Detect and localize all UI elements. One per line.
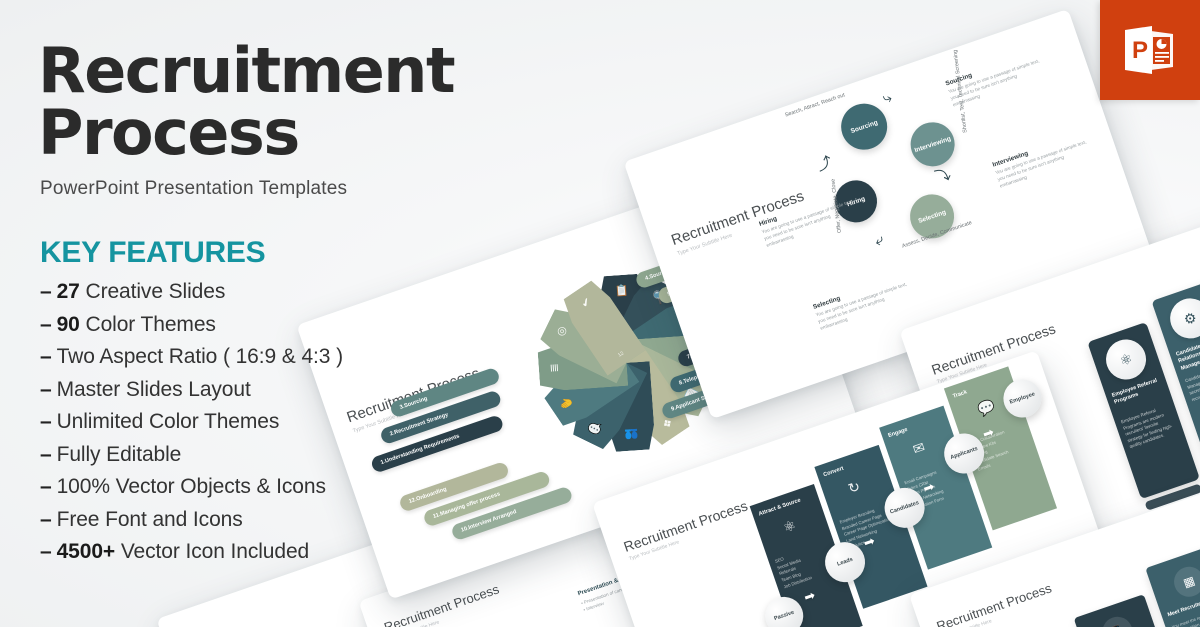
step-card[interactable]: ▦Meet RecruiterYou meet the recruiter as… [1145, 544, 1200, 627]
badge-icon: ✔ [580, 296, 594, 310]
feature-item: –Unlimited Color Themes [40, 406, 470, 439]
feature-dash: – [40, 410, 52, 433]
page-title: Recruitment Process [38, 40, 470, 164]
funnel-node-label: Passive [773, 610, 795, 622]
feature-dash: – [40, 280, 52, 303]
grid-icon: ▦ [1170, 563, 1200, 601]
funnel-stage-title: Track [952, 389, 968, 399]
wheel-segment-number: 12 [617, 350, 625, 358]
feature-item: –27 Creative Slides [40, 276, 470, 309]
referral-icon: ⚛ [1101, 334, 1152, 385]
feature-item: –Two Aspect Ratio ( 16:9 & 4:3 ) [40, 341, 470, 374]
clipboard-icon: 📋 [614, 286, 628, 298]
atom-icon: ⚛ [781, 517, 798, 537]
mobile-icon: 📱 [1098, 613, 1136, 627]
feature-item: –100% Vector Objects & Icons [40, 471, 470, 504]
feature-label: Unlimited Color Themes [57, 410, 280, 433]
powerpoint-badge: P [1100, 0, 1200, 100]
feature-dash: – [40, 508, 52, 531]
funnel-stage-title: Engage [887, 427, 908, 439]
feature-label: 100% Vector Objects & Icons [57, 475, 326, 498]
funnel-node-label: Candidates [889, 500, 919, 515]
feature-label: Color Themes [86, 313, 216, 336]
card-title: Candidate Relationship Management [1175, 336, 1200, 373]
feature-item: –90 Color Themes [40, 309, 470, 342]
funnel-stage-title: Attract & Source [758, 497, 802, 517]
cycle-arrow-icon: ⤵ [934, 167, 953, 186]
cycle-node[interactable]: Interviewing [905, 116, 961, 172]
feature-number: 90 [57, 313, 86, 336]
key-features-heading: KEY FEATURES [40, 236, 470, 270]
cycle-text-block: Interviewing You are going to use a pass… [992, 131, 1092, 190]
convert-icon: ↻ [846, 478, 863, 498]
feature-label: Creative Slides [86, 280, 226, 303]
chat-icon: 💬 [587, 419, 604, 435]
poster-canvas: es Recruitment Process Type Your Subtitl… [0, 0, 1200, 627]
feature-label: Fully Editable [57, 443, 182, 466]
feature-item: –4500+ Vector Icon Included [40, 536, 470, 569]
handshake-icon: ✋ [559, 394, 576, 412]
cycle-node-label: Sourcing [850, 119, 879, 135]
feature-number: 4500+ [57, 540, 121, 563]
card-title: Employee Referral Programs [1111, 377, 1163, 407]
feature-number: 27 [57, 280, 86, 303]
feature-label: Master Slides Layout [57, 378, 251, 401]
feature-dash: – [40, 313, 52, 336]
cycle-node[interactable]: Sourcing [835, 97, 893, 155]
powerpoint-icon: P [1121, 24, 1179, 76]
feature-dash: – [40, 443, 52, 466]
feature-dash: – [40, 475, 52, 498]
target-icon: ◎ [555, 325, 569, 338]
chat-icon: 💬 [975, 397, 997, 419]
feature-label: Vector Icon Included [121, 540, 309, 563]
funnel-node-label: Leads [836, 557, 853, 568]
feature-dash: – [40, 378, 52, 401]
funnel-stage-title: Convert [823, 466, 845, 479]
svg-text:P: P [1132, 37, 1148, 64]
funnel-node-label: Applicants [950, 446, 979, 461]
feature-label: Two Aspect Ratio ( 16:9 & 4:3 ) [57, 345, 343, 368]
cycle-arrow-icon: ⤷ [881, 90, 894, 107]
funnel-node-label: Employee [1009, 391, 1036, 405]
network-icon: ⚙ [1165, 293, 1200, 344]
feature-dash: – [40, 540, 52, 563]
cycle-caption: Search, Attract, Reach out [784, 92, 845, 118]
hero-text-panel: Recruitment Process PowerPoint Presentat… [40, 40, 470, 569]
mail-icon: ✉ [911, 438, 928, 458]
page-subtitle: PowerPoint Presentation Templates [40, 178, 470, 200]
feature-label: Free Font and Icons [57, 508, 243, 531]
feature-item: –Free Font and Icons [40, 504, 470, 537]
cycle-node-label: Selecting [917, 208, 947, 224]
feature-item: –Master Slides Layout [40, 374, 470, 407]
slide-title: Recruitment Process [622, 497, 750, 554]
slide-title: Recruitment Process [935, 580, 1054, 627]
layers-icon: ≣ [549, 363, 561, 373]
cycle-arrow-icon: ⤶ [873, 232, 886, 249]
cycle-node-label: Interviewing [914, 135, 952, 154]
key-features-list: –27 Creative Slides–90 Color Themes–Two … [40, 276, 470, 569]
feature-dash: – [40, 345, 52, 368]
people-icon: 👥 [624, 428, 638, 440]
feature-item: –Fully Editable [40, 439, 470, 472]
cycle-arrow-icon: ⤴ [815, 155, 834, 174]
cycle-text-block: Selecting You are going to use a passage… [812, 273, 912, 332]
card-body: Employee Referral Programs are modern re… [1120, 403, 1178, 451]
